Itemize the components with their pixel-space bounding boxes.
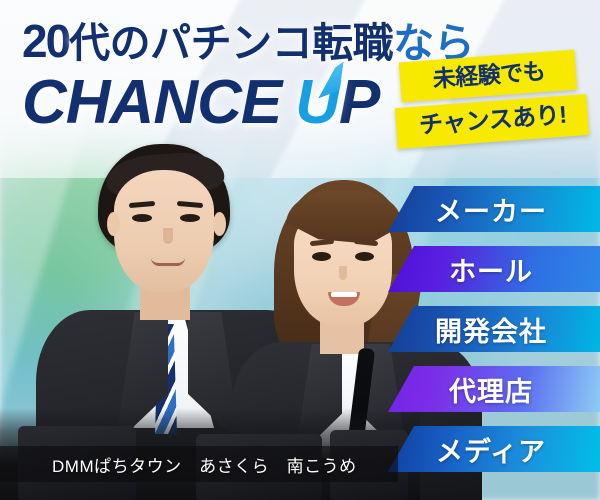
male-mouth — [151, 258, 185, 266]
headline-main: 代のパチンコ転職 — [69, 20, 393, 66]
logo-chance-text: CHANCE — [22, 68, 281, 137]
male-eye-left — [132, 214, 152, 222]
nav-button-agency[interactable]: 代理店 — [388, 366, 600, 412]
male-nose — [163, 228, 173, 244]
chance-up-logo: CHANCEUP — [22, 72, 379, 134]
female-eye-left — [312, 252, 331, 261]
male-eye-right — [180, 214, 200, 222]
nav-button-hall-label: ホール — [449, 250, 539, 289]
experience-badge: 未経験でも チャンスあり! — [400, 56, 596, 142]
credit-text: DMMぱちタウン あさくら 南こうめ — [52, 452, 357, 477]
nav-button-maker[interactable]: メーカー — [388, 186, 600, 232]
nav-button-developer[interactable]: 開発会社 — [388, 306, 600, 352]
credit-strip: DMMぱちタウン あさくら 南こうめ — [0, 446, 398, 482]
nav-button-developer-label: 開発会社 — [435, 310, 553, 349]
category-nav: メーカー ホール 開発会社 代理店 メディア — [388, 186, 600, 486]
nav-button-media-label: メディア — [436, 430, 552, 469]
pachinko-recruitment-banner: 20代のパチンコ転職なら CHANCEUP 未経験でも チャンスあり! メーカー… — [0, 0, 600, 500]
male-ear-left — [107, 212, 120, 236]
badge-line-2: チャンスあり! — [395, 94, 589, 149]
badge-line-1: 未経験でも — [399, 50, 577, 103]
nav-button-agency-label: 代理店 — [449, 370, 539, 409]
logo-p-text: P — [339, 68, 379, 137]
nav-button-maker-label: メーカー — [435, 190, 553, 229]
male-ear-right — [213, 212, 226, 236]
nav-button-media[interactable]: メディア — [388, 426, 600, 472]
female-eye-right — [355, 252, 374, 261]
logo-u-letter: U — [295, 72, 339, 134]
female-nose — [339, 266, 347, 280]
nav-button-hall[interactable]: ホール — [388, 246, 600, 292]
headline-number: 20 — [22, 15, 69, 67]
